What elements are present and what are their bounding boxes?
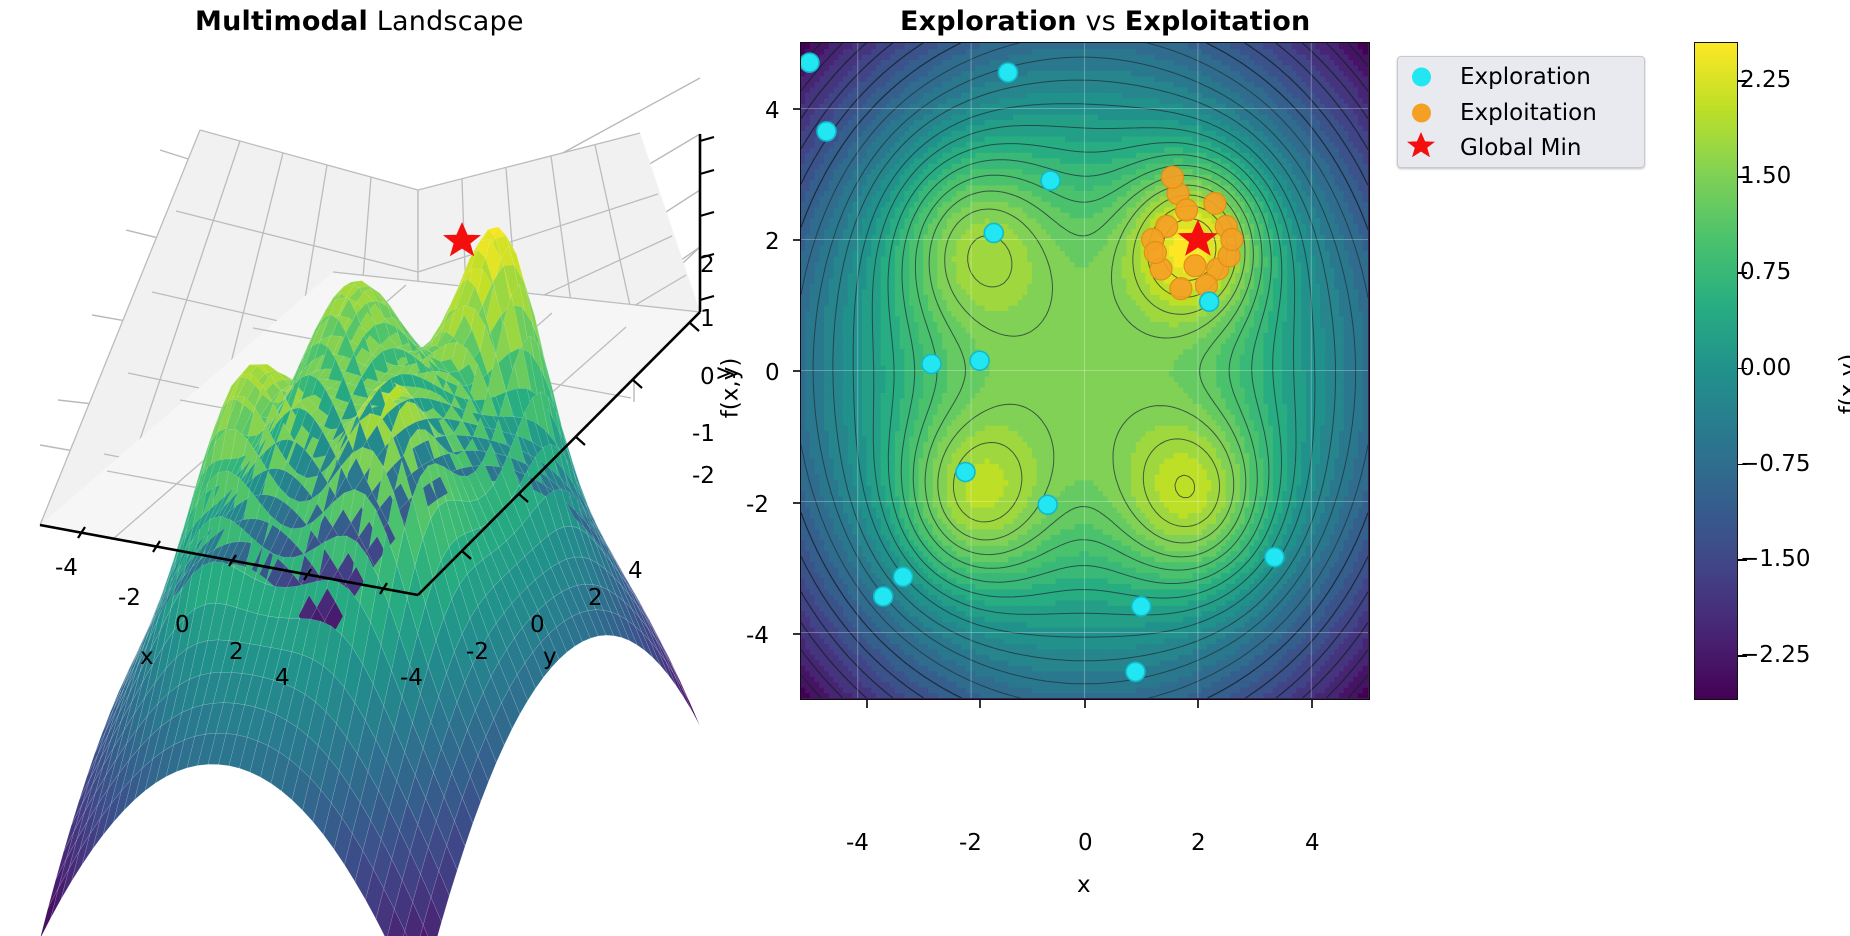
exploitation-point xyxy=(1221,229,1243,251)
surface-panel: Multimodal Landscape xyxy=(0,0,860,936)
surface-xtick-m2: -2 xyxy=(118,585,141,611)
colorbar-tick-0: 2.25 xyxy=(1740,67,1791,93)
exploration-point xyxy=(817,122,836,141)
surface-ztick-1: 1 xyxy=(700,306,715,332)
surface-xtick-2: 2 xyxy=(229,639,244,665)
colorbar-tickmark-3 xyxy=(1738,368,1747,370)
contour-title-bold1: Exploration xyxy=(900,6,1077,37)
legend-item-global-min[interactable]: Global Min xyxy=(1398,131,1644,165)
surface-xtick-0: 0 xyxy=(175,612,190,638)
contour-xtick-m4: -4 xyxy=(846,830,869,856)
surface-ytick-m2: -2 xyxy=(466,639,489,665)
circle-marker-exploration-icon xyxy=(1412,68,1431,87)
surface-xtick-m4: -4 xyxy=(55,555,78,581)
exploration-point xyxy=(1038,495,1057,514)
contour-title-mid: vs xyxy=(1077,6,1125,37)
contour-xtick-2: 2 xyxy=(1191,830,1206,856)
contour-yaxis-label-overlay: f(x,y) xyxy=(717,358,743,419)
colorbar-tick-5: −1.50 xyxy=(1740,546,1810,572)
surface-ytick-2: 2 xyxy=(588,585,603,611)
exploration-point xyxy=(1265,548,1284,567)
legend-label-exploration: Exploration xyxy=(1460,64,1591,90)
colorbar-tick-6: −2.25 xyxy=(1740,642,1810,668)
exploration-point xyxy=(801,53,819,72)
legend-label-exploitation: Exploitation xyxy=(1460,100,1597,126)
exploration-point xyxy=(922,354,941,373)
contour-xaxis-label: x xyxy=(1077,872,1091,898)
contour-plot-area[interactable] xyxy=(800,42,1370,700)
contour-title-bold2: Exploitation xyxy=(1125,6,1311,37)
surface-xaxis-label: x xyxy=(140,644,154,670)
contour-xtick-4: 4 xyxy=(1305,830,1320,856)
legend-item-exploration[interactable]: Exploration xyxy=(1398,60,1644,94)
exploration-point xyxy=(874,587,893,606)
exploration-point xyxy=(1041,171,1060,190)
surface-yaxis-label: y xyxy=(543,644,557,670)
surface-ztick-m1: -1 xyxy=(692,421,715,447)
exploration-point xyxy=(894,567,913,586)
exploration-point xyxy=(984,223,1003,242)
exploration-point xyxy=(998,63,1017,82)
contour-svg xyxy=(801,43,1368,698)
contour-ytick-2: 2 xyxy=(765,229,780,255)
exploitation-point xyxy=(1184,255,1206,277)
star-marker-icon xyxy=(1406,131,1436,165)
exploration-point xyxy=(956,463,975,482)
surface-ztick-2: 2 xyxy=(700,252,715,278)
contour-ytick-4: 4 xyxy=(765,98,780,124)
contour-ytick-m2: -2 xyxy=(746,492,769,518)
colorbar-tickmark-4 xyxy=(1738,464,1747,466)
colorbar-tick-1: 1.50 xyxy=(1740,163,1791,189)
surface-ztick-m2: -2 xyxy=(692,463,715,489)
exploration-point xyxy=(1200,292,1219,311)
contour-legend: Exploration Exploitation Global Min xyxy=(1397,56,1645,168)
surface-ytick-0: 0 xyxy=(530,612,545,638)
exploration-point xyxy=(970,351,989,370)
surface-ytick-4: 4 xyxy=(628,558,643,584)
colorbar-tickmark-1 xyxy=(1738,176,1747,178)
colorbar-tickmark-0 xyxy=(1738,80,1747,82)
exploitation-point xyxy=(1161,166,1183,188)
exploration-point xyxy=(1132,597,1151,616)
contour-xtick-0: 0 xyxy=(1078,830,1093,856)
contour-ytick-m4: -4 xyxy=(746,623,769,649)
colorbar-tick-4: −0.75 xyxy=(1740,451,1810,477)
exploitation-point xyxy=(1204,192,1226,214)
exploitation-point xyxy=(1176,199,1198,221)
surface-plot-svg xyxy=(0,0,860,936)
colorbar-tick-3: 0.00 xyxy=(1740,355,1791,381)
exploitation-point xyxy=(1170,278,1192,300)
legend-label-global-min: Global Min xyxy=(1460,135,1582,161)
colorbar-tickmark-6 xyxy=(1738,655,1747,657)
colorbar-tickmark-2 xyxy=(1738,272,1747,274)
contour-ytick-0: 0 xyxy=(765,360,780,386)
colorbar-label: f(x,y) xyxy=(1835,354,1850,415)
colorbar-tick-2: 0.75 xyxy=(1740,259,1791,285)
exploitation-point xyxy=(1144,242,1166,264)
exploration-point xyxy=(1126,662,1145,681)
colorbar xyxy=(1694,42,1738,700)
surface-xtick-4: 4 xyxy=(275,665,290,691)
legend-item-exploitation[interactable]: Exploitation xyxy=(1398,96,1644,130)
contour-xtick-m2: -2 xyxy=(959,830,982,856)
contour-panel-title: Exploration vs Exploitation xyxy=(900,6,1310,37)
surface-ytick-m4: -4 xyxy=(400,665,423,691)
figure-canvas: Multimodal Landscape xyxy=(0,0,1850,936)
colorbar-tickmark-5 xyxy=(1738,559,1747,561)
circle-marker-exploitation-icon xyxy=(1412,104,1431,123)
